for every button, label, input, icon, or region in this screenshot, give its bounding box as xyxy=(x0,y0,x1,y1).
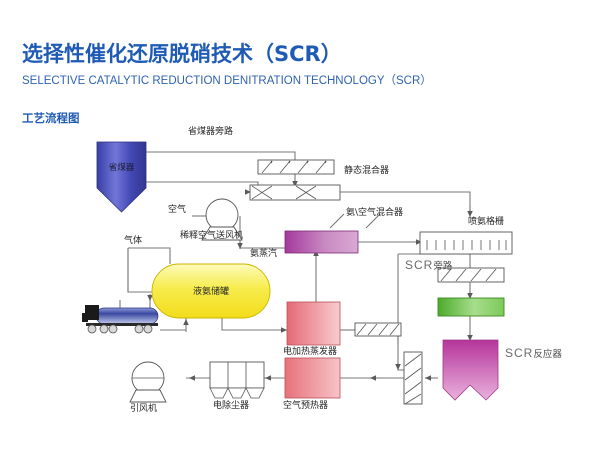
ammonia-air-mixer xyxy=(285,231,358,253)
ammonia-storage-tank-label: 液氨储罐 xyxy=(193,285,229,297)
leader-ammonia xyxy=(330,214,344,228)
air-preheater xyxy=(285,358,340,398)
pipe-econ-to-static-mixer xyxy=(146,182,258,192)
pipe-fan-to-amm-air-mixer xyxy=(240,216,285,248)
economizer-bypass-damper xyxy=(258,160,334,174)
label-air: 空气 xyxy=(168,206,186,215)
pipe-tank-to-evaporator xyxy=(222,318,285,330)
label-ammonia-air-mixer: 氨\空气混合器 xyxy=(346,209,403,218)
label-dilution-air-fan: 稀释空气送风机 xyxy=(180,232,243,241)
economizer-vessel: 省煤器 xyxy=(97,142,146,212)
economizer-label: 省煤器 xyxy=(109,162,135,173)
label-economizer-bypass: 省煤器旁路 xyxy=(188,128,233,137)
ammonia-injection-grid xyxy=(420,232,512,254)
scr-reactor xyxy=(443,340,498,400)
catalyst-layer xyxy=(438,298,504,316)
pipe-econ-top-to-bypass-damper xyxy=(146,152,295,160)
label-scr-reactor: SCR反应器 xyxy=(505,346,562,360)
tanker-truck xyxy=(82,305,158,333)
label-ammonia-injection-grid: 喷氨格栅 xyxy=(468,218,504,227)
label-ammonia-vapor: 氨蒸汽 xyxy=(250,250,277,259)
process-flow-diagram: 省煤器 液氨储罐 xyxy=(0,0,600,450)
static-mixer xyxy=(250,185,340,200)
label-gas: 气体 xyxy=(124,237,142,246)
ammonia-storage-tank: 液氨储罐 xyxy=(152,264,270,318)
electrostatic-precipitator xyxy=(210,362,264,398)
label-scr-bypass-en: SCR xyxy=(405,258,433,272)
evaporator-line-damper xyxy=(355,323,401,336)
label-scr-reactor-en: SCR xyxy=(505,346,533,360)
slide-page: 选择性催化还原脱硝技术（SCR） SELECTIVE CATALYTIC RED… xyxy=(0,0,600,450)
pipe-gas-top xyxy=(128,248,170,264)
label-electric-heating-evaporator: 电加热蒸发器 xyxy=(283,348,337,357)
label-static-mixer: 静态混合器 xyxy=(344,167,389,176)
reactor-outlet-damper xyxy=(404,352,422,404)
label-scr-bypass-cn: 旁路 xyxy=(433,261,452,272)
label-air-preheater: 空气预热器 xyxy=(283,402,328,411)
electric-heating-evaporator xyxy=(287,302,340,345)
label-scr-bypass: SCR旁路 xyxy=(405,258,452,272)
label-scr-reactor-cn: 反应器 xyxy=(533,349,562,360)
label-id-fan: 引风机 xyxy=(130,405,157,414)
induced-draft-fan xyxy=(130,362,166,402)
label-esp: 电除尘器 xyxy=(213,402,249,411)
